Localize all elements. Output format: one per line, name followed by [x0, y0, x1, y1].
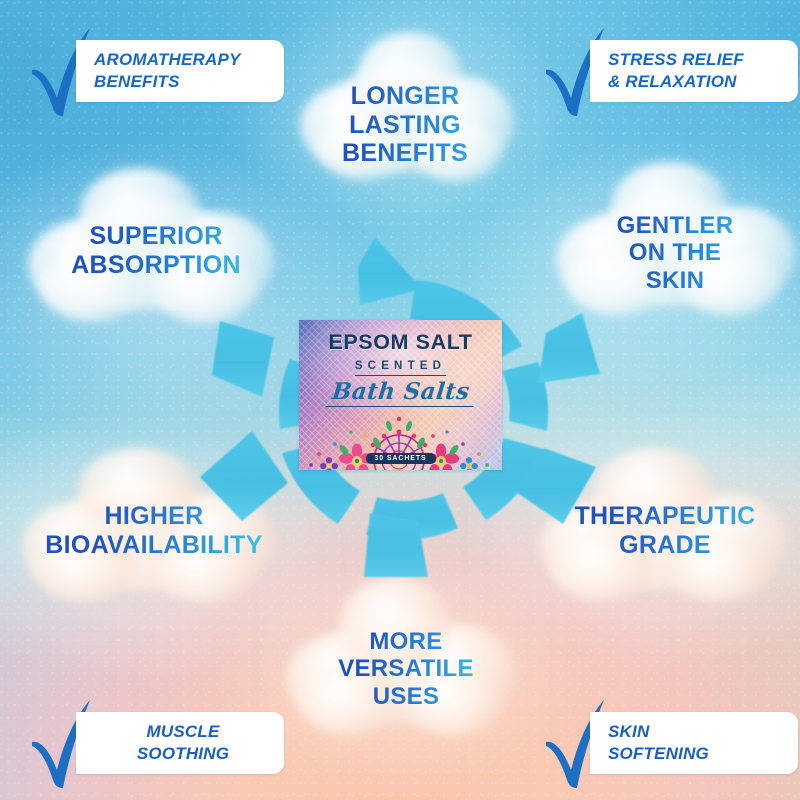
benefit-label-higher-bioavailability: HIGHER BIOAVAILABILITY: [38, 502, 270, 559]
badge-panel: STRESS RELIEF & RELAXATION: [590, 40, 798, 102]
badge-panel: AROMATHERAPY BENEFITS: [76, 40, 284, 102]
benefit-label-more-versatile-uses: MORE VERSATILE USES: [318, 628, 494, 710]
benefit-line: ABSORPTION: [48, 251, 264, 280]
badge-line: SOFTENING: [608, 743, 798, 765]
badge-line: SOOTHING: [137, 743, 229, 765]
ring-arrow-bottom: [364, 493, 458, 577]
benefit-line: BENEFITS: [300, 139, 510, 168]
package-count-badge: 30 SACHETS: [365, 453, 435, 465]
package-subtitle: SCENTED: [355, 360, 446, 376]
benefit-line: BIOAVAILABILITY: [38, 531, 270, 560]
product-package-image[interactable]: EPSOM SALT SCENTED Bath Salts: [299, 320, 502, 470]
benefit-line: SUPERIOR: [48, 222, 264, 251]
benefit-label-gentler-on-the-skin: GENTLER ON THE SKIN: [572, 212, 778, 294]
benefit-line: USES: [318, 683, 494, 710]
benefit-line: HIGHER: [38, 502, 270, 531]
benefit-line: LASTING: [300, 111, 510, 140]
badge-skin-softening: SKIN SOFTENING: [528, 700, 798, 790]
badge-muscle-soothing: MUSCLE SOOTHING: [14, 700, 284, 790]
badge-line: SKIN: [608, 721, 798, 743]
badge-line: & RELAXATION: [608, 71, 798, 93]
benefit-line: THERAPEUTIC: [552, 502, 778, 531]
benefit-label-longer-lasting-benefits: LONGER LASTING BENEFITS: [300, 82, 510, 168]
benefit-line: GENTLER: [572, 212, 778, 239]
badge-line: MUSCLE: [147, 721, 220, 743]
badge-aromatherapy-benefits: AROMATHERAPY BENEFITS: [14, 28, 284, 118]
badge-stress-relief-relaxation: STRESS RELIEF & RELAXATION: [528, 28, 798, 118]
badge-line: BENEFITS: [94, 71, 284, 93]
package-script-text: Bath Salts: [325, 378, 476, 407]
ring-arrow-upper-right: [502, 313, 600, 431]
package-text-block: EPSOM SALT SCENTED Bath Salts: [299, 330, 502, 407]
benefit-line: GRADE: [552, 531, 778, 560]
benefit-line: MORE: [318, 628, 494, 655]
package-title: EPSOM SALT: [299, 330, 502, 355]
benefit-label-therapeutic-grade: THERAPEUTIC GRADE: [552, 502, 778, 559]
benefit-line: VERSATILE: [318, 655, 494, 682]
benefit-line: LONGER: [300, 82, 510, 111]
badge-panel: SKIN SOFTENING: [590, 712, 798, 774]
benefit-label-superior-absorption: SUPERIOR ABSORPTION: [48, 222, 264, 279]
benefit-line: ON THE: [572, 239, 778, 266]
benefit-line: SKIN: [572, 267, 778, 294]
badge-line: STRESS RELIEF: [608, 49, 798, 71]
infographic-canvas: EPSOM SALT SCENTED Bath Salts: [0, 0, 800, 800]
badge-line: AROMATHERAPY: [94, 49, 284, 71]
badge-panel: MUSCLE SOOTHING: [76, 712, 284, 774]
